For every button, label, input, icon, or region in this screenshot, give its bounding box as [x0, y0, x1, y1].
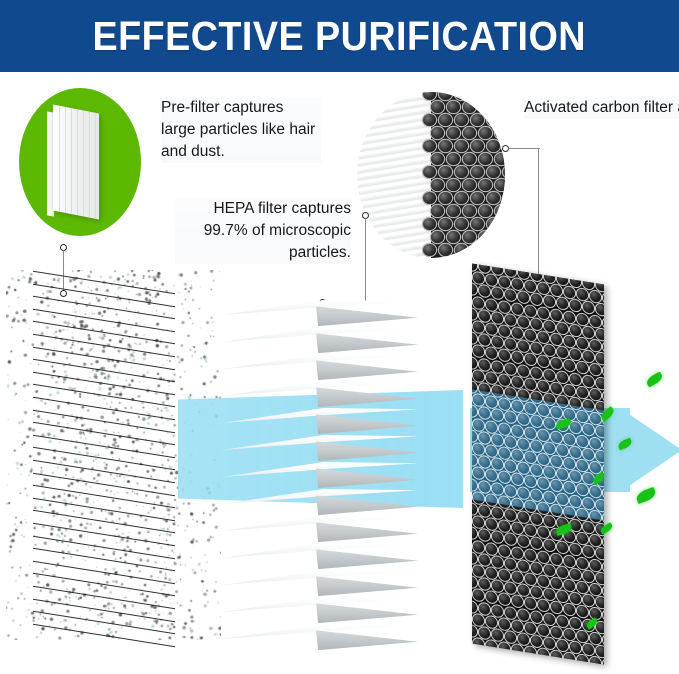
honeycomb-cell	[557, 371, 568, 384]
carbon-cell	[487, 140, 500, 152]
honeycomb-cell	[538, 648, 549, 661]
carbon-cell	[455, 244, 468, 256]
honeycomb-cell	[486, 371, 497, 384]
carbon-cell	[487, 166, 500, 178]
honeycomb-cell	[577, 288, 588, 301]
honeycomb-cell	[551, 357, 562, 370]
carbon-cell	[431, 101, 444, 113]
honeycomb-cell	[538, 355, 549, 368]
honeycomb-cell	[596, 352, 604, 365]
hepa-pleat	[222, 624, 418, 654]
carbon-cell	[439, 192, 452, 204]
carbon-cell	[423, 192, 436, 204]
honeycomb-cell	[472, 551, 477, 564]
honeycomb-cell	[492, 629, 503, 642]
honeycomb-cell	[551, 382, 562, 395]
honeycomb-cell	[472, 356, 477, 369]
carbon-cell	[455, 92, 468, 100]
honeycomb-cell	[564, 579, 575, 592]
honeycomb-cell	[492, 287, 503, 300]
honeycomb-cell	[492, 336, 503, 349]
honeycomb-cell	[505, 338, 516, 351]
hepa-pleat	[222, 597, 418, 627]
honeycomb-cell	[544, 344, 555, 357]
carbon-cell	[503, 114, 505, 126]
honeycomb-cell	[505, 509, 516, 522]
honeycomb-cell	[472, 264, 477, 272]
carbon-cell	[431, 153, 444, 165]
honeycomb-cell	[583, 302, 594, 315]
honeycomb-cell	[473, 272, 484, 285]
honeycomb-cell	[544, 320, 555, 333]
honeycomb-cell	[525, 280, 536, 293]
honeycomb-cell	[479, 285, 490, 298]
honeycomb-cell	[518, 364, 529, 377]
honeycomb-cell	[486, 347, 497, 360]
carbon-cell	[479, 179, 492, 191]
carbon-cell	[447, 205, 460, 217]
honeycomb-cell	[492, 264, 503, 276]
pre-filter-closeup-badge	[19, 88, 141, 236]
carbon-cell	[447, 179, 460, 191]
honeycomb-cell	[544, 588, 555, 601]
clean-air-arrow	[620, 408, 679, 492]
honeycomb-cell	[557, 541, 568, 554]
honeycomb-cell	[538, 307, 549, 320]
honeycomb-cell	[492, 556, 503, 569]
honeycomb-cell	[596, 645, 604, 658]
honeycomb-cell	[596, 548, 604, 561]
honeycomb-cell	[570, 543, 581, 556]
honeycomb-cell	[472, 576, 477, 589]
honeycomb-cell	[473, 321, 484, 334]
honeycomb-cell	[538, 380, 549, 393]
carbon-cell	[455, 218, 468, 230]
honeycomb-cell	[564, 384, 575, 397]
honeycomb-cell	[570, 617, 581, 630]
carbon-cell	[503, 244, 505, 256]
honeycomb-cell	[590, 339, 601, 352]
honeycomb-cell	[472, 283, 477, 296]
carbon-cell	[447, 101, 460, 113]
filtration-illustration	[0, 260, 679, 674]
honeycomb-cell	[603, 610, 605, 623]
carbon-cell	[487, 192, 500, 204]
honeycomb-cell	[531, 562, 542, 575]
honeycomb-cell	[492, 531, 503, 544]
honeycomb-cell	[479, 309, 490, 322]
carbon-cell	[479, 153, 492, 165]
honeycomb-cell	[531, 318, 542, 331]
honeycomb-cell	[472, 527, 477, 540]
carbon-cell	[423, 166, 436, 178]
honeycomb-cell	[479, 505, 490, 518]
honeycomb-cell	[505, 631, 516, 644]
honeycomb-cell	[499, 520, 510, 533]
honeycomb-cell	[570, 592, 581, 605]
honeycomb-cell	[492, 312, 503, 325]
honeycomb-cell	[525, 329, 536, 342]
honeycomb-cell	[473, 296, 484, 309]
carbon-cell	[495, 231, 505, 243]
honeycomb-cell	[570, 373, 581, 386]
honeycomb-cell	[518, 291, 529, 304]
honeycomb-cell	[531, 342, 542, 355]
honeycomb-cell	[512, 546, 523, 559]
hepa-pleat	[222, 570, 418, 600]
honeycomb-cell	[499, 300, 510, 313]
honeycomb-cell	[538, 599, 549, 612]
honeycomb-cell	[557, 590, 568, 603]
honeycomb-cell	[590, 364, 601, 377]
honeycomb-cell	[544, 539, 555, 552]
hepa-pleat	[222, 327, 418, 357]
honeycomb-cell	[505, 533, 516, 546]
honeycomb-cell	[518, 316, 529, 329]
carbon-cell	[463, 153, 476, 165]
carbon-honeycomb-macro	[431, 92, 505, 258]
honeycomb-cell	[525, 597, 536, 610]
carbon-cell	[447, 153, 460, 165]
honeycomb-cell	[499, 593, 510, 606]
honeycomb-cell	[492, 604, 503, 617]
honeycomb-cell	[557, 615, 568, 628]
carbon-cell	[463, 101, 476, 113]
honeycomb-cell	[538, 331, 549, 344]
honeycomb-cell	[512, 522, 523, 535]
honeycomb-cell	[505, 582, 516, 595]
honeycomb-cell	[479, 602, 490, 615]
hepa-pleat	[222, 489, 418, 519]
carbon-cell	[495, 153, 505, 165]
honeycomb-cell	[544, 613, 555, 626]
pre-filter-panel-face	[53, 105, 99, 220]
honeycomb-cell	[577, 337, 588, 350]
carbon-cell	[495, 179, 505, 191]
carbon-cell	[439, 166, 452, 178]
honeycomb-cell	[473, 589, 484, 602]
honeycomb-cell	[518, 633, 529, 646]
honeycomb-cell	[472, 503, 477, 516]
honeycomb-cell	[577, 581, 588, 594]
honeycomb-cell	[486, 298, 497, 311]
honeycomb-cell	[499, 618, 510, 631]
carbon-cell	[503, 218, 505, 230]
honeycomb-cell	[512, 327, 523, 340]
carbon-cell	[487, 244, 500, 256]
honeycomb-cell	[596, 596, 604, 609]
honeycomb-cell	[512, 620, 523, 633]
honeycomb-cell	[512, 278, 523, 291]
honeycomb-cell	[525, 622, 536, 635]
hepa-pleat	[222, 462, 418, 492]
honeycomb-cell	[518, 340, 529, 353]
honeycomb-cell	[479, 529, 490, 542]
honeycomb-cell	[551, 553, 562, 566]
honeycomb-cell	[479, 553, 490, 566]
honeycomb-cell	[486, 518, 497, 531]
carbon-cell	[455, 192, 468, 204]
carbon-cell	[447, 127, 460, 139]
honeycomb-cell	[603, 341, 605, 354]
honeycomb-cell	[472, 600, 477, 613]
carbon-cell	[423, 114, 436, 126]
carbon-cell	[423, 140, 436, 152]
honeycomb-cell	[472, 625, 477, 638]
carbon-cell	[471, 244, 484, 256]
honeycomb-cell	[518, 560, 529, 573]
honeycomb-cell	[479, 358, 490, 371]
honeycomb-cell	[499, 325, 510, 338]
carbon-cell	[471, 218, 484, 230]
honeycomb-cell	[570, 519, 581, 532]
carbon-cell	[423, 244, 436, 256]
callout-activated-carbon: Activated carbon filter absorb	[524, 97, 679, 119]
honeycomb-cell	[557, 322, 568, 335]
honeycomb-cell	[544, 515, 555, 528]
honeycomb-cell	[577, 386, 588, 399]
honeycomb-cell	[518, 267, 529, 280]
honeycomb-cell	[531, 586, 542, 599]
hepa-pleat	[222, 543, 418, 573]
header-banner: EFFECTIVE PURIFICATION	[0, 0, 679, 72]
carbon-cell	[431, 127, 444, 139]
carbon-cell	[471, 140, 484, 152]
carbon-cell	[463, 127, 476, 139]
honeycomb-cell	[564, 555, 575, 568]
carbon-cell	[479, 127, 492, 139]
carbon-cell	[439, 244, 452, 256]
honeycomb-cell	[583, 643, 594, 656]
honeycomb-cell	[518, 608, 529, 621]
carbon-cell	[503, 192, 505, 204]
honeycomb-cell	[551, 284, 562, 297]
carbon-cell	[431, 231, 444, 243]
honeycomb-cell	[473, 369, 484, 382]
page-title: EFFECTIVE PURIFICATION	[93, 16, 587, 57]
honeycomb-cell	[492, 580, 503, 593]
honeycomb-cell	[473, 613, 484, 626]
honeycomb-cell	[596, 304, 604, 317]
honeycomb-cell	[603, 561, 605, 574]
carbon-cell	[439, 114, 452, 126]
honeycomb-cell	[603, 658, 605, 664]
honeycomb-cell	[557, 639, 568, 652]
hepa-pleat	[222, 300, 418, 330]
honeycomb-cell	[512, 376, 523, 389]
honeycomb-cell	[603, 634, 605, 647]
honeycomb-cell	[479, 334, 490, 347]
honeycomb-cell	[525, 646, 536, 659]
hepa-pleat	[222, 381, 418, 411]
honeycomb-cell	[473, 345, 484, 358]
honeycomb-cell	[603, 366, 605, 379]
honeycomb-cell	[577, 532, 588, 545]
honeycomb-cell	[564, 359, 575, 372]
callout-pre-filter: Pre-filter captures large particles like…	[161, 97, 321, 163]
infographic-canvas: EFFECTIVE PURIFICATION Pre-filter captur…	[0, 0, 679, 674]
honeycomb-cell	[479, 578, 490, 591]
honeycomb-cell	[505, 265, 516, 278]
honeycomb-cell	[531, 366, 542, 379]
honeycomb-cell	[596, 377, 604, 390]
honeycomb-cell	[473, 638, 484, 651]
honeycomb-cell	[505, 606, 516, 619]
honeycomb-cell	[472, 307, 477, 320]
honeycomb-cell	[538, 551, 549, 564]
honeycomb-cell	[577, 557, 588, 570]
carbon-cell	[455, 140, 468, 152]
carbon-cell	[503, 166, 505, 178]
honeycomb-cell	[570, 275, 581, 288]
honeycomb-cell	[570, 641, 581, 654]
honeycomb-cell	[596, 572, 604, 585]
carbon-cell	[455, 166, 468, 178]
honeycomb-cell	[564, 311, 575, 324]
honeycomb-cell	[596, 328, 604, 341]
honeycomb-cell	[499, 276, 510, 289]
honeycomb-cell	[583, 326, 594, 339]
honeycomb-cell	[518, 535, 529, 548]
honeycomb-cell	[531, 537, 542, 550]
honeycomb-cell	[512, 351, 523, 364]
callout-hepa: HEPA filter captures 99.7% of microscopi…	[175, 198, 351, 264]
honeycomb-cell	[531, 635, 542, 648]
honeycomb-cell	[531, 610, 542, 623]
airflow-through-carbon	[472, 390, 604, 521]
honeycomb-cell	[577, 313, 588, 326]
honeycomb-cell	[525, 378, 536, 391]
carbon-cell	[495, 101, 505, 113]
honeycomb-cell	[577, 654, 588, 664]
honeycomb-cell	[590, 559, 601, 572]
honeycomb-cell	[590, 534, 601, 547]
honeycomb-cell	[512, 302, 523, 315]
honeycomb-cell	[538, 624, 549, 637]
hepa-pleat	[222, 435, 418, 465]
honeycomb-cell	[564, 628, 575, 641]
carbon-cell	[471, 192, 484, 204]
honeycomb-cell	[570, 568, 581, 581]
honeycomb-cell	[531, 269, 542, 282]
hepa-pleat-stack	[222, 300, 422, 660]
honeycomb-cell	[486, 640, 497, 653]
leaf-icon	[645, 372, 664, 388]
honeycomb-cell	[603, 585, 605, 598]
honeycomb-cell	[583, 375, 594, 388]
honeycomb-cell	[551, 309, 562, 322]
honeycomb-cell	[525, 573, 536, 586]
honeycomb-cell	[577, 361, 588, 374]
carbon-cell	[495, 205, 505, 217]
honeycomb-cell	[596, 279, 604, 292]
honeycomb-cell	[583, 594, 594, 607]
honeycomb-cell	[479, 264, 490, 274]
honeycomb-cell	[570, 324, 581, 337]
honeycomb-cell	[499, 569, 510, 582]
hepa-pleat	[222, 408, 418, 438]
honeycomb-cell	[583, 521, 594, 534]
honeycomb-cell	[590, 290, 601, 303]
honeycomb-cell	[531, 513, 542, 526]
honeycomb-cell	[505, 314, 516, 327]
hepa-pleat	[222, 354, 418, 384]
honeycomb-cell	[512, 595, 523, 608]
honeycomb-cell	[590, 315, 601, 328]
honeycomb-cell	[544, 369, 555, 382]
honeycomb-cell	[577, 605, 588, 618]
carbon-cell	[479, 205, 492, 217]
honeycomb-cell	[499, 374, 510, 387]
honeycomb-cell	[486, 591, 497, 604]
honeycomb-cell	[499, 642, 510, 655]
honeycomb-cell	[570, 348, 581, 361]
honeycomb-cell	[551, 577, 562, 590]
hepa-carbon-macro-badge	[357, 92, 505, 258]
honeycomb-cell	[551, 601, 562, 614]
honeycomb-cell	[557, 297, 568, 310]
hepa-pleat	[222, 516, 418, 546]
carbon-cell	[455, 114, 468, 126]
honeycomb-cell	[557, 566, 568, 579]
carbon-cell	[431, 179, 444, 191]
honeycomb-cell	[544, 637, 555, 650]
honeycomb-cell	[525, 304, 536, 317]
honeycomb-cell	[603, 390, 605, 403]
honeycomb-cell	[505, 362, 516, 375]
honeycomb-cell	[486, 323, 497, 336]
honeycomb-cell	[512, 644, 523, 657]
honeycomb-cell	[544, 271, 555, 284]
honeycomb-cell	[544, 295, 555, 308]
honeycomb-cell	[557, 273, 568, 286]
honeycomb-cell	[486, 615, 497, 628]
honeycomb-cell	[564, 335, 575, 348]
carbon-cell	[503, 92, 505, 100]
honeycomb-cell	[570, 299, 581, 312]
honeycomb-cell	[505, 289, 516, 302]
honeycomb-cell	[583, 350, 594, 363]
carbon-cell	[439, 140, 452, 152]
honeycomb-cell	[583, 570, 594, 583]
hepa-media-macro	[357, 92, 431, 258]
honeycomb-cell	[538, 282, 549, 295]
honeycomb-cell	[499, 349, 510, 362]
carbon-cell	[471, 166, 484, 178]
carbon-cell	[439, 92, 452, 100]
carbon-cell	[487, 92, 500, 100]
honeycomb-cell	[472, 332, 477, 345]
honeycomb-cell	[518, 511, 529, 524]
honeycomb-cell	[551, 650, 562, 663]
carbon-cell	[463, 205, 476, 217]
carbon-cell	[471, 114, 484, 126]
honeycomb-cell	[525, 353, 536, 366]
honeycomb-cell	[564, 603, 575, 616]
honeycomb-cell	[544, 564, 555, 577]
honeycomb-cell	[512, 571, 523, 584]
honeycomb-cell	[525, 548, 536, 561]
honeycomb-cell	[590, 388, 601, 401]
honeycomb-cell	[492, 507, 503, 520]
honeycomb-cell	[538, 575, 549, 588]
honeycomb-cell	[479, 627, 490, 640]
activated-carbon-panel	[472, 264, 604, 665]
honeycomb-cell	[486, 567, 497, 580]
carbon-cell	[447, 231, 460, 243]
honeycomb-cell	[518, 584, 529, 597]
carbon-cell	[423, 218, 436, 230]
